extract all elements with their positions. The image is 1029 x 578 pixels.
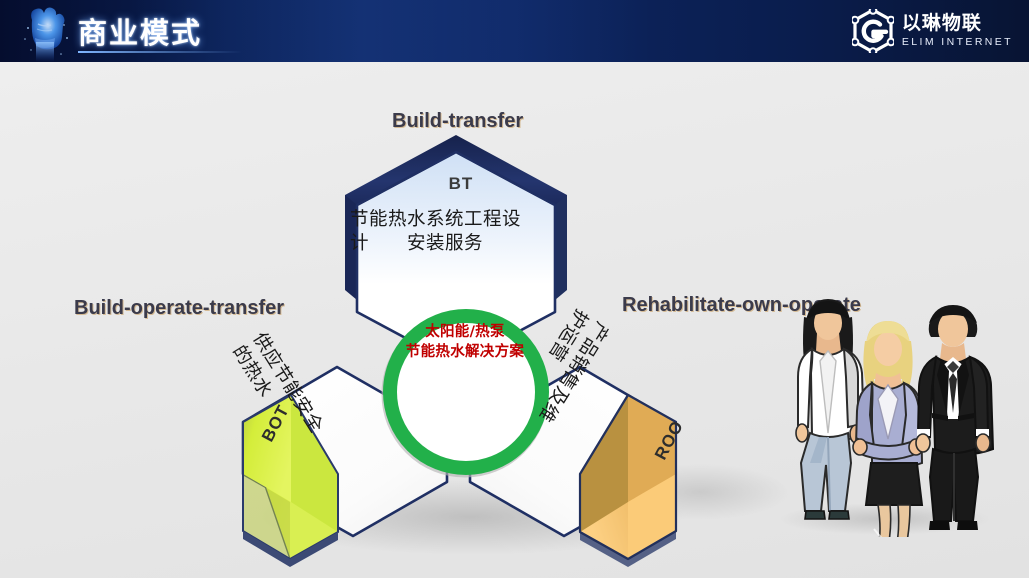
center-line2: 节能热水解决方案 xyxy=(397,343,533,363)
page-title: 商业模式 xyxy=(78,10,202,52)
hexagon-g-logo-icon xyxy=(852,9,894,53)
segment-body-bt-line1: 节能热水系统工程设 xyxy=(350,207,565,231)
logo-name-cn: 以琳物联 xyxy=(902,14,1013,33)
slide: 商业模式 以琳物联 ELIM INTERNET xyxy=(0,0,1029,578)
segment-body-bt-line2: 计 安装服务 xyxy=(350,231,565,255)
segment-body-bt: 节能热水系统工程设 计 安装服务 xyxy=(350,207,565,254)
outer-label-build-operate-transfer: Build-operate-transfer xyxy=(74,297,284,320)
logo-name-en: ELIM INTERNET xyxy=(902,37,1013,48)
outer-label-build-transfer: Build-transfer xyxy=(392,110,523,133)
slide-header: 商业模式 以琳物联 ELIM INTERNET xyxy=(0,0,1029,62)
three-business-people-illustration xyxy=(766,287,1004,537)
center-solution-text: 太阳能/热泵 节能热水解决方案 xyxy=(397,323,533,362)
fist-icon xyxy=(12,0,78,62)
logo-text: 以琳物联 ELIM INTERNET xyxy=(902,14,1013,48)
business-model-diagram: Build-transfer Build-operate-transfer Re… xyxy=(0,62,1029,578)
segment-tag-bt: BT xyxy=(406,174,516,194)
brand-logo: 以琳物联 ELIM INTERNET xyxy=(852,9,1013,53)
center-line1: 太阳能/热泵 xyxy=(397,323,533,343)
title-underline xyxy=(78,51,242,53)
